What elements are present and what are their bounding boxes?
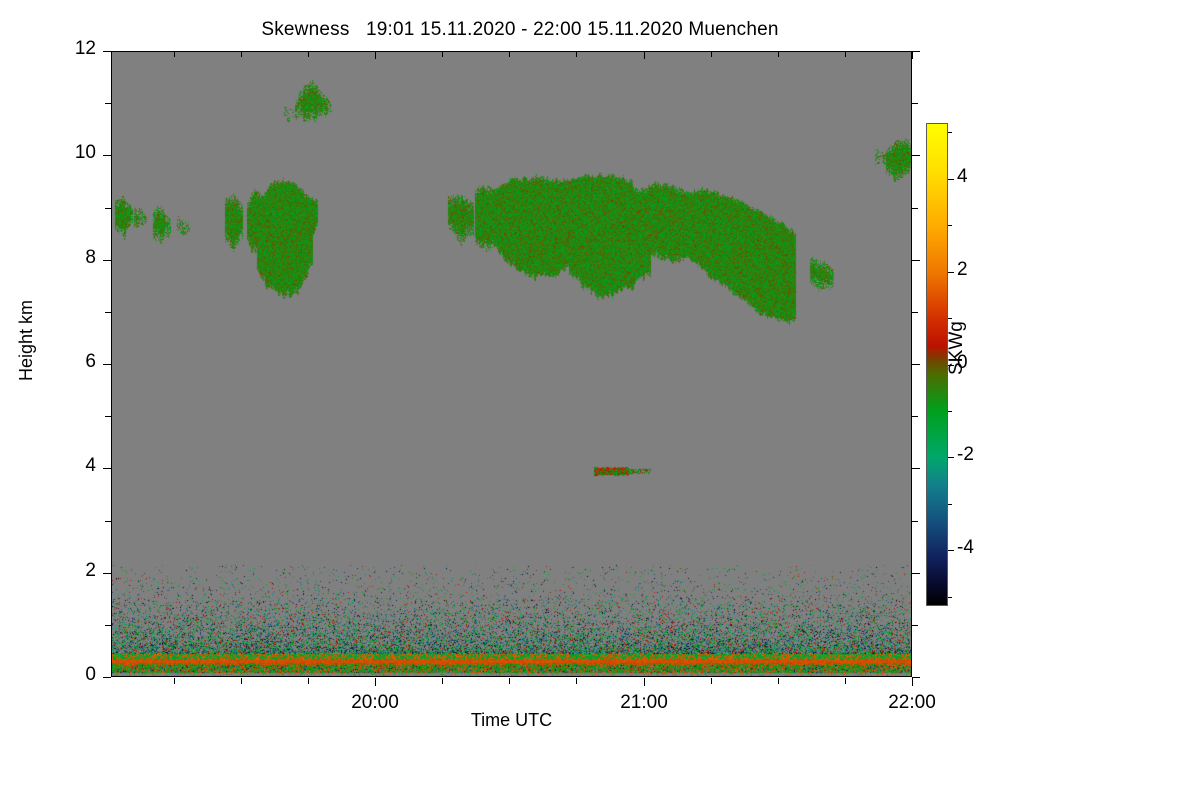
y-tick-label: 2 <box>36 560 96 582</box>
colorbar-tick-label: 4 <box>957 166 997 188</box>
y-tick-major <box>103 155 111 156</box>
colorbar-tick <box>948 457 954 458</box>
y-tick-major-right <box>912 51 920 52</box>
colorbar-tick-minor <box>948 504 952 505</box>
y-tick-minor <box>105 625 111 626</box>
y-tick-major-right <box>912 468 920 469</box>
y-tick-major-right <box>912 364 920 365</box>
x-tick-minor-top <box>845 51 846 57</box>
y-tick-major <box>103 573 111 574</box>
x-tick-minor-top <box>241 51 242 57</box>
y-tick-label: 8 <box>36 247 96 269</box>
colorbar <box>926 123 948 606</box>
y-tick-label: 6 <box>36 351 96 373</box>
x-tick-minor <box>576 678 577 684</box>
x-tick-minor <box>241 678 242 684</box>
colorbar-tick-minor <box>948 318 952 319</box>
y-tick-major-right <box>912 155 920 156</box>
x-tick-minor <box>442 678 443 684</box>
y-tick-minor-right <box>912 521 918 522</box>
page-title: Skewness 19:01 15.11.2020 - 22:00 15.11.… <box>0 19 1040 41</box>
x-axis-title: Time UTC <box>111 710 912 731</box>
x-tick-minor <box>308 678 309 684</box>
y-tick-minor <box>105 521 111 522</box>
x-tick-minor <box>174 678 175 684</box>
x-tick-major-top <box>644 51 645 59</box>
x-tick-label: 20:00 <box>315 692 435 714</box>
x-tick-minor-top <box>711 51 712 57</box>
colorbar-tick-minor <box>948 225 952 226</box>
y-tick-minor-right <box>912 625 918 626</box>
x-tick-minor-top <box>442 51 443 57</box>
plot-area <box>111 51 912 677</box>
colorbar-tick <box>948 272 954 273</box>
x-tick-minor-top <box>174 51 175 57</box>
y-tick-minor-right <box>912 312 918 313</box>
heatmap-canvas <box>112 52 912 677</box>
colorbar-tick-label: 0 <box>957 352 997 374</box>
x-tick-minor-top <box>778 51 779 57</box>
x-tick-minor-top <box>509 51 510 57</box>
colorbar-tick <box>948 365 954 366</box>
colorbar-tick-label: 2 <box>957 259 997 281</box>
x-tick-minor <box>509 678 510 684</box>
y-tick-minor-right <box>912 208 918 209</box>
colorbar-tick <box>948 179 954 180</box>
y-tick-label: 10 <box>36 142 96 164</box>
colorbar-gradient <box>926 123 948 606</box>
y-tick-major <box>103 51 111 52</box>
x-tick-major <box>912 678 913 686</box>
colorbar-tick-label: -2 <box>957 444 997 466</box>
x-tick-minor <box>711 678 712 684</box>
y-tick-label: 12 <box>36 38 96 60</box>
y-tick-major <box>103 468 111 469</box>
x-tick-major <box>375 678 376 686</box>
x-tick-minor <box>845 678 846 684</box>
x-tick-minor-top <box>308 51 309 57</box>
y-tick-minor <box>105 416 111 417</box>
y-tick-minor <box>105 208 111 209</box>
y-tick-major-right <box>912 573 920 574</box>
colorbar-tick <box>948 550 954 551</box>
y-tick-major-right <box>912 677 920 678</box>
y-tick-minor <box>105 103 111 104</box>
y-axis-title: Height km <box>16 300 37 381</box>
colorbar-tick-label: -4 <box>957 537 997 559</box>
y-tick-label: 0 <box>36 664 96 686</box>
chart-root: Skewness 19:01 15.11.2020 - 22:00 15.11.… <box>0 0 1200 800</box>
y-tick-minor <box>105 312 111 313</box>
y-tick-minor-right <box>912 103 918 104</box>
colorbar-tick-minor <box>948 597 952 598</box>
y-tick-major <box>103 260 111 261</box>
y-tick-major <box>103 677 111 678</box>
x-tick-label: 22:00 <box>852 692 972 714</box>
colorbar-tick-minor <box>948 132 952 133</box>
x-tick-minor <box>778 678 779 684</box>
colorbar-tick-minor <box>948 411 952 412</box>
y-tick-label: 4 <box>36 455 96 477</box>
y-tick-minor-right <box>912 416 918 417</box>
x-tick-major <box>644 678 645 686</box>
y-tick-major <box>103 364 111 365</box>
y-tick-major-right <box>912 260 920 261</box>
x-tick-label: 21:00 <box>584 692 704 714</box>
x-tick-minor-top <box>576 51 577 57</box>
x-tick-major-top <box>912 51 913 59</box>
x-tick-major-top <box>375 51 376 59</box>
